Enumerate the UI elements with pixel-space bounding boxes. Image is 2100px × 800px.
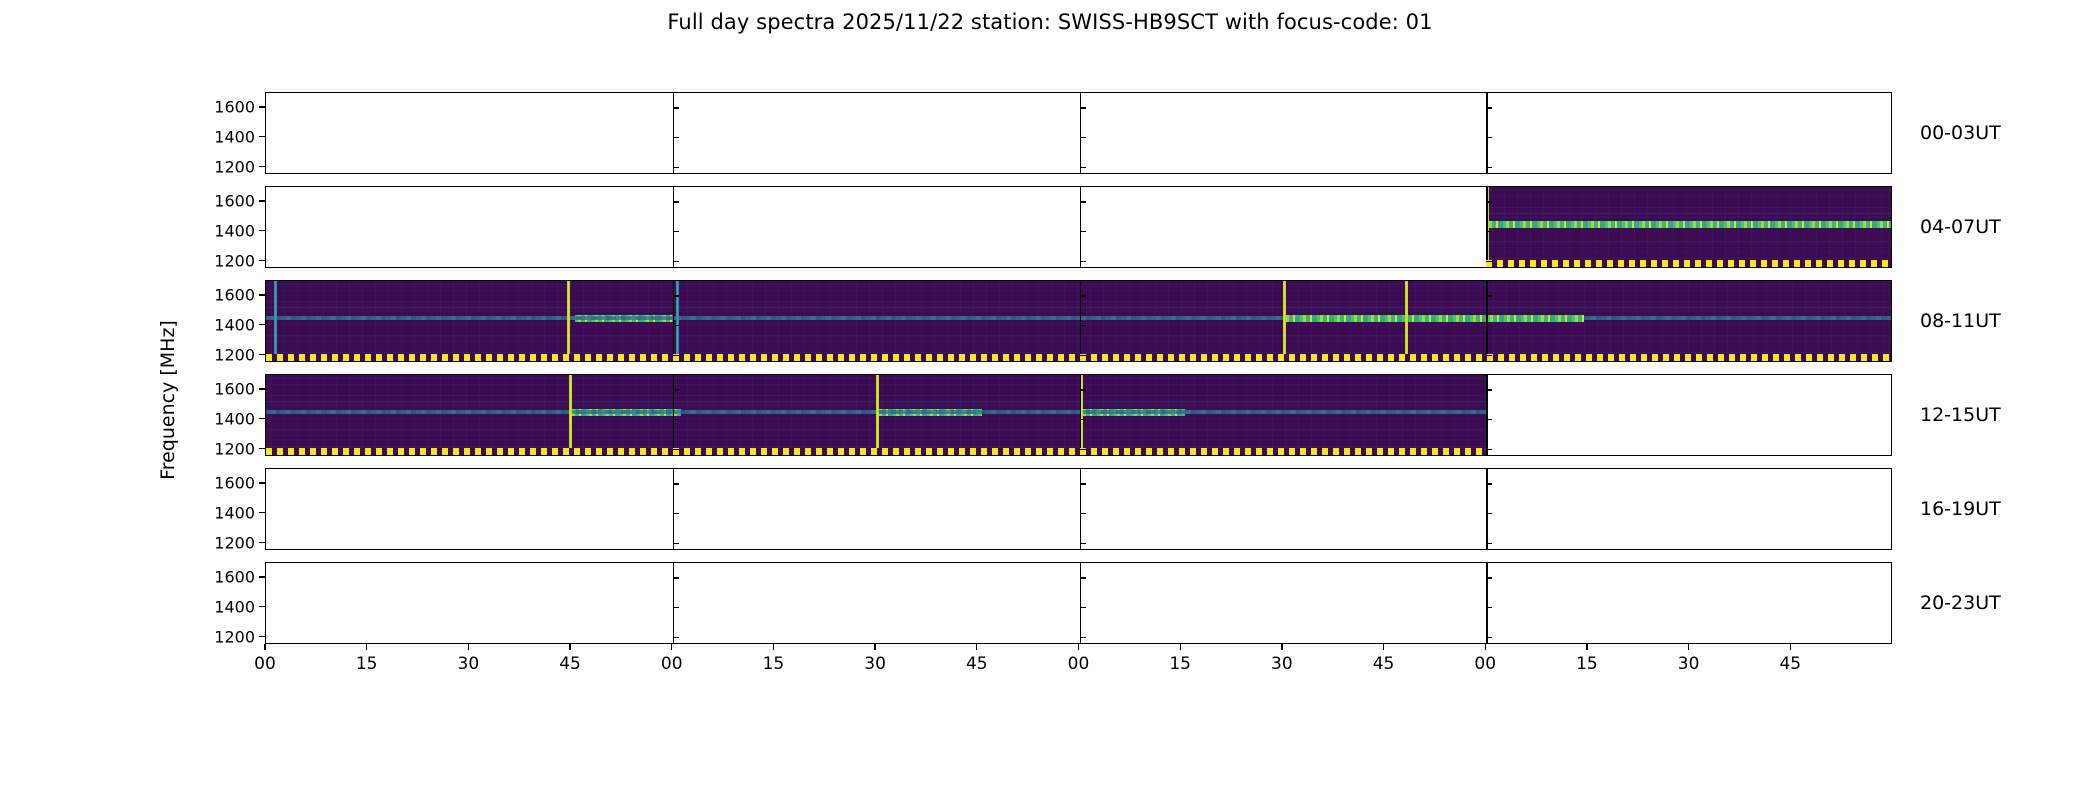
y-tick [673, 355, 679, 356]
y-tick [259, 606, 265, 607]
hour-separator [673, 375, 674, 455]
onset-line [567, 281, 570, 361]
y-tick-label: 1400 [207, 409, 255, 428]
y-tick [1486, 201, 1492, 202]
noise-stripe [1486, 216, 1892, 218]
x-tick-label: 30 [458, 654, 480, 674]
y-tick [1080, 261, 1086, 262]
hour-separator [1486, 93, 1487, 173]
spectrogram-row-20-23ut [265, 562, 1892, 644]
hour-separator [1080, 187, 1081, 267]
spectrogram-row-04-07ut [265, 186, 1892, 268]
y-tick [1486, 577, 1492, 578]
y-tick [1486, 231, 1492, 232]
x-tick-label: 45 [1779, 654, 1801, 674]
y-tick [673, 325, 679, 326]
hour-separator [1080, 281, 1081, 361]
x-tick-label: 45 [559, 654, 581, 674]
x-tick [1180, 644, 1181, 650]
y-tick [1486, 419, 1492, 420]
onset-line [1283, 281, 1286, 361]
noise-stripe [1486, 242, 1892, 244]
y-tick [1486, 543, 1492, 544]
x-tick [976, 644, 977, 650]
row-label-16-19ut: 16-19UT [1920, 498, 2001, 520]
row-label-12-15ut: 12-15UT [1920, 404, 2001, 426]
y-tick [1486, 355, 1492, 356]
y-tick [1486, 325, 1492, 326]
noise-stripe [1486, 251, 1892, 253]
y-tick [259, 324, 265, 325]
row-label-04-07ut: 04-07UT [1920, 216, 2001, 238]
hour-separator [1486, 563, 1487, 643]
y-tick [259, 448, 265, 449]
y-tick-label: 1200 [207, 251, 255, 270]
y-tick [673, 449, 679, 450]
y-tick [259, 636, 265, 637]
hour-separator [1080, 563, 1081, 643]
hour-separator [673, 93, 674, 173]
emission-band [1486, 221, 1892, 228]
y-tick [673, 483, 679, 484]
y-tick [1486, 167, 1492, 168]
spectrogram-row-08-11ut [265, 280, 1892, 362]
y-tick [1080, 419, 1086, 420]
x-tick [468, 644, 469, 650]
x-tick [1586, 644, 1587, 650]
hour-separator [1080, 375, 1081, 455]
figure-title: Full day spectra 2025/11/22 station: SWI… [0, 10, 2100, 34]
y-tick [1486, 137, 1492, 138]
y-tick-label: 1600 [207, 285, 255, 304]
y-tick [259, 294, 265, 295]
y-tick [1080, 449, 1086, 450]
y-tick [1486, 483, 1492, 484]
y-tick [1080, 137, 1086, 138]
y-tick [673, 577, 679, 578]
hour-separator [673, 563, 674, 643]
x-tick [264, 644, 265, 650]
spectrogram-row-00-03ut [265, 92, 1892, 174]
y-tick [1080, 231, 1086, 232]
hour-separator [673, 187, 674, 267]
y-tick [259, 136, 265, 137]
y-tick [259, 354, 265, 355]
y-tick [673, 543, 679, 544]
onset-line [876, 375, 879, 455]
y-tick [673, 389, 679, 390]
x-tick [1688, 644, 1689, 650]
y-tick [1080, 577, 1086, 578]
x-tick-label: 00 [254, 654, 276, 674]
y-tick-label: 1200 [207, 345, 255, 364]
y-tick-label: 1200 [207, 439, 255, 458]
y-tick [259, 260, 265, 261]
y-tick [673, 637, 679, 638]
y-tick-label: 1600 [207, 97, 255, 116]
y-tick [1080, 107, 1086, 108]
onset-line [569, 375, 572, 455]
saturated-bottom-bin [266, 448, 1486, 455]
x-tick-label: 00 [661, 654, 683, 674]
y-tick [1486, 261, 1492, 262]
y-tick [1080, 355, 1086, 356]
y-tick [1080, 607, 1086, 608]
y-tick [1486, 449, 1492, 450]
x-tick-label: 15 [1576, 654, 1598, 674]
y-tick [1486, 389, 1492, 390]
y-tick-label: 1600 [207, 567, 255, 586]
y-tick-label: 1400 [207, 503, 255, 522]
y-axis-label: Frequency [MHz] [157, 320, 179, 480]
x-tick-label: 15 [1169, 654, 1191, 674]
x-tick [874, 644, 875, 650]
x-tick [366, 644, 367, 650]
y-tick-label: 1600 [207, 191, 255, 210]
y-tick [673, 231, 679, 232]
x-tick-label: 30 [1678, 654, 1700, 674]
y-tick [1486, 637, 1492, 638]
y-tick-label: 1400 [207, 127, 255, 146]
hour-separator [1486, 281, 1487, 361]
y-tick [1486, 295, 1492, 296]
y-tick [1486, 513, 1492, 514]
y-tick [259, 388, 265, 389]
y-tick [259, 230, 265, 231]
spectrogram-row-16-19ut [265, 468, 1892, 550]
x-tick-label: 45 [966, 654, 988, 674]
y-tick [259, 482, 265, 483]
x-tick [1790, 644, 1791, 650]
hour-separator [673, 281, 674, 361]
y-tick [259, 512, 265, 513]
saturated-bottom-bin [1486, 260, 1892, 267]
y-tick [673, 419, 679, 420]
spectrogram-data [266, 375, 1486, 455]
y-tick [259, 166, 265, 167]
y-tick [259, 576, 265, 577]
hour-separator [1486, 187, 1487, 267]
hour-separator [1080, 469, 1081, 549]
spectrogram-figure: Full day spectra 2025/11/22 station: SWI… [0, 0, 2100, 800]
x-tick [1485, 644, 1486, 650]
y-tick [259, 542, 265, 543]
hour-separator [1080, 93, 1081, 173]
y-tick [1080, 483, 1086, 484]
y-tick [259, 106, 265, 107]
row-label-00-03ut: 00-03UT [1920, 122, 2001, 144]
y-tick [1080, 637, 1086, 638]
y-tick [259, 418, 265, 419]
y-tick [673, 295, 679, 296]
row-label-20-23ut: 20-23UT [1920, 592, 2001, 614]
y-tick-label: 1600 [207, 473, 255, 492]
y-tick [673, 201, 679, 202]
y-tick [1080, 389, 1086, 390]
spectrogram-data [1486, 187, 1892, 267]
y-tick [1080, 201, 1086, 202]
emission-band [1283, 315, 1584, 322]
y-tick [673, 513, 679, 514]
y-tick [673, 137, 679, 138]
x-tick-label: 00 [1474, 654, 1496, 674]
hour-separator [1486, 375, 1487, 455]
x-tick [569, 644, 570, 650]
x-tick-label: 15 [763, 654, 785, 674]
onset-line [676, 281, 679, 361]
y-tick [1486, 607, 1492, 608]
y-tick-label: 1400 [207, 221, 255, 240]
spectrogram-row-12-15ut [265, 374, 1892, 456]
onset-line [274, 281, 277, 361]
y-tick [673, 607, 679, 608]
x-tick-label: 30 [864, 654, 886, 674]
onset-line [1405, 281, 1408, 361]
x-tick-label: 00 [1068, 654, 1090, 674]
y-tick-label: 1200 [207, 533, 255, 552]
y-tick [673, 107, 679, 108]
x-tick [671, 644, 672, 650]
y-tick-label: 1200 [207, 157, 255, 176]
hour-separator [673, 469, 674, 549]
hour-separator [1486, 469, 1487, 549]
y-tick [1080, 543, 1086, 544]
y-tick [673, 261, 679, 262]
y-tick [1080, 167, 1086, 168]
y-tick-label: 1200 [207, 627, 255, 646]
y-tick-label: 1600 [207, 379, 255, 398]
x-tick [1078, 644, 1079, 650]
y-tick-label: 1400 [207, 315, 255, 334]
y-tick [673, 167, 679, 168]
x-tick [1383, 644, 1384, 650]
y-tick [1080, 295, 1086, 296]
noise-stripe [1486, 212, 1892, 215]
x-tick-label: 15 [356, 654, 378, 674]
y-tick [1486, 107, 1492, 108]
x-tick-label: 30 [1271, 654, 1293, 674]
y-tick [1080, 513, 1086, 514]
row-label-08-11ut: 08-11UT [1920, 310, 2001, 332]
x-tick-label: 45 [1373, 654, 1395, 674]
y-tick [1080, 325, 1086, 326]
x-tick [773, 644, 774, 650]
y-tick-label: 1400 [207, 597, 255, 616]
y-tick [259, 200, 265, 201]
x-tick [1281, 644, 1282, 650]
